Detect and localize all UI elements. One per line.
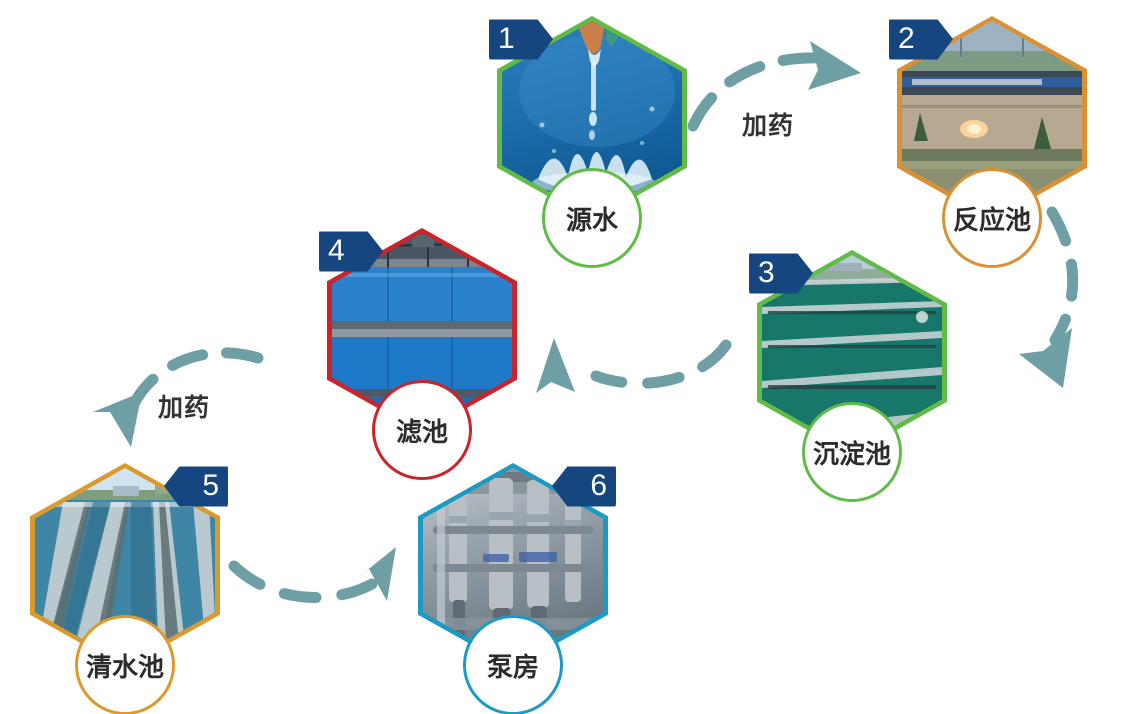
arrow-label-dosing-1: 加药 bbox=[742, 106, 794, 142]
step-number: 2 bbox=[898, 24, 915, 54]
node-label-text: 滤池 bbox=[396, 412, 448, 449]
node-label-text: 泵房 bbox=[487, 647, 539, 684]
node-label-text: 沉淀池 bbox=[813, 434, 891, 471]
step-number: 1 bbox=[498, 24, 515, 54]
process-node-clearwater-reservoir[interactable]: 5 清水池 bbox=[30, 463, 220, 714]
arrow-path-5-6 bbox=[234, 566, 372, 598]
step-number: 6 bbox=[590, 471, 607, 501]
process-flow-diagram: 加药 加药 bbox=[0, 0, 1130, 714]
node-label-text: 反应池 bbox=[953, 200, 1031, 237]
step-number: 4 bbox=[328, 236, 345, 266]
process-node-reaction-tank[interactable]: 2 反应池 bbox=[897, 16, 1087, 286]
arrow-head-4-5 bbox=[93, 392, 142, 447]
process-node-filter-basin[interactable]: 4 滤池 bbox=[327, 228, 517, 498]
node-label-text: 源水 bbox=[566, 200, 618, 237]
arrow-path-3-4 bbox=[596, 345, 726, 383]
node-label-text: 清水池 bbox=[86, 647, 164, 684]
process-node-source-water[interactable]: 1 源水 bbox=[497, 16, 687, 286]
node-label-bubble: 泵房 bbox=[463, 615, 563, 714]
node-label-bubble: 沉淀池 bbox=[802, 402, 902, 502]
arrow-head-5-6 bbox=[355, 547, 396, 601]
process-node-pump-house[interactable]: 6 泵房 bbox=[418, 463, 608, 714]
arrow-head-3-4 bbox=[536, 338, 575, 393]
step-number: 3 bbox=[758, 258, 775, 288]
node-label-bubble: 清水池 bbox=[75, 615, 175, 714]
arrow-head-2-3 bbox=[1019, 328, 1072, 388]
arrow-head-1-2 bbox=[808, 41, 861, 90]
node-label-bubble: 滤池 bbox=[372, 380, 472, 480]
step-number: 5 bbox=[202, 471, 219, 501]
process-node-sedimentation-tank[interactable]: 3 沉淀池 bbox=[757, 250, 947, 520]
node-label-bubble: 反应池 bbox=[942, 168, 1042, 268]
node-label-bubble: 源水 bbox=[542, 168, 642, 268]
arrow-label-dosing-2: 加药 bbox=[158, 388, 210, 424]
